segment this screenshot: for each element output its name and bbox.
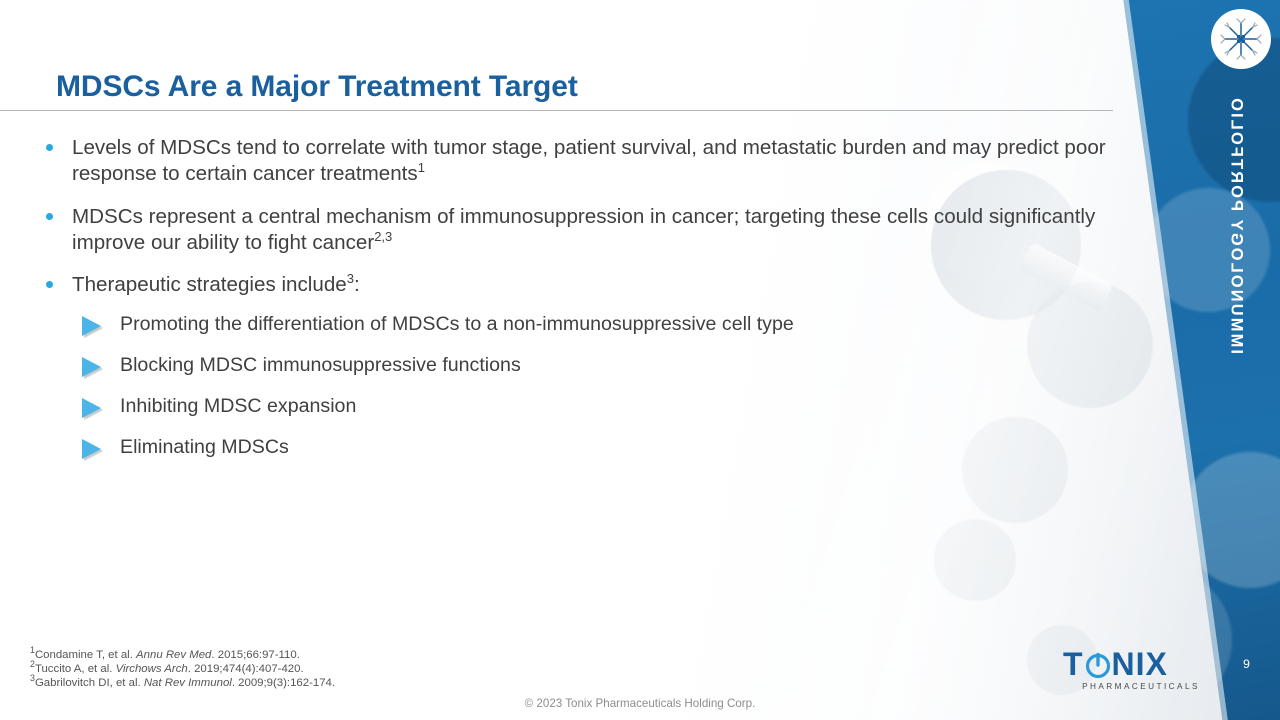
footnote-citation: . 2019;474(4):407-420.: [188, 663, 304, 675]
bullet-text-main: Levels of MDSCs tend to correlate with t…: [72, 136, 1106, 185]
footnote-authors: Tuccito A, et al.: [35, 663, 116, 675]
tonix-logo: T NIX PHARMACEUTICALS: [1063, 648, 1219, 692]
footnote-item: 3Gabrilovitch DI, et al. Nat Rev Immunol…: [30, 676, 335, 690]
footnote-authors: Gabrilovitch DI, et al.: [35, 677, 144, 689]
footnote-list: 1Condamine T, et al. Annu Rev Med. 2015;…: [30, 648, 335, 691]
footnote-item: 2Tuccito A, et al. Virchows Arch. 2019;4…: [30, 662, 335, 676]
bullet-item: Levels of MDSCs tend to correlate with t…: [46, 135, 1121, 187]
arrow-right-icon: [82, 353, 120, 378]
sub-bullet-item: Eliminating MDSCs: [82, 435, 1121, 460]
bullet-item: Therapeutic strategies include3:: [46, 272, 1121, 298]
sub-bullet-label: Inhibiting MDSC expansion: [120, 394, 1121, 418]
bullet-item: MDSCs represent a central mechanism of i…: [46, 204, 1121, 256]
bullet-dot-icon: [46, 135, 72, 151]
tonix-logo-nix: NIX: [1112, 648, 1168, 680]
bullet-superscript: 2,3: [374, 229, 392, 244]
tonix-logo-t: T: [1063, 648, 1084, 680]
page-number: 9: [1243, 657, 1250, 671]
footnote-journal: Nat Rev Immunol: [144, 677, 232, 689]
arrow-right-icon: [82, 312, 120, 337]
page-title: MDSCs Are a Major Treatment Target: [56, 70, 578, 104]
bullet-dot-icon: [46, 272, 72, 288]
sub-bullet-list: Promoting the differentiation of MDSCs t…: [46, 312, 1121, 460]
bullet-text: Levels of MDSCs tend to correlate with t…: [72, 135, 1121, 187]
tonix-logo-power-icon: [1085, 651, 1111, 677]
footnote-journal: Annu Rev Med: [136, 649, 211, 661]
sidebar-vertical-label: IMMUNOLOGY PORTFOLIO: [1216, 96, 1256, 396]
bullet-superscript: 1: [418, 160, 425, 175]
footnote-authors: Condamine T, et al.: [35, 649, 136, 661]
bullet-dot-icon: [46, 204, 72, 220]
bullet-text-suffix: :: [354, 273, 360, 296]
molecule-snowflake-icon: [1211, 9, 1271, 69]
sub-bullet-item: Promoting the differentiation of MDSCs t…: [82, 312, 1121, 337]
sub-bullet-label: Promoting the differentiation of MDSCs t…: [120, 312, 1121, 336]
footnote-citation: . 2009;9(3):162-174.: [232, 677, 335, 689]
arrow-right-icon: [82, 435, 120, 460]
sub-bullet-item: Inhibiting MDSC expansion: [82, 394, 1121, 419]
bullet-text: Therapeutic strategies include3:: [72, 272, 1121, 298]
footnote-item: 1Condamine T, et al. Annu Rev Med. 2015;…: [30, 648, 335, 662]
tonix-logo-wordmark: T NIX: [1063, 648, 1219, 680]
title-divider: [0, 110, 1113, 111]
bullet-superscript: 3: [347, 271, 354, 286]
sidebar-vertical-label-text: IMMUNOLOGY PORTFOLIO: [1227, 96, 1246, 354]
slide-canvas: IMMUNOLOGY PORTFOLIO MDSCs Are a Major T…: [0, 0, 1280, 720]
sub-bullet-label: Eliminating MDSCs: [120, 435, 1121, 459]
sub-bullet-label: Blocking MDSC immunosuppressive function…: [120, 353, 1121, 377]
bullet-text-main: Therapeutic strategies include: [72, 273, 347, 296]
copyright-notice: © 2023 Tonix Pharmaceuticals Holding Cor…: [0, 697, 1280, 710]
sub-bullet-item: Blocking MDSC immunosuppressive function…: [82, 353, 1121, 378]
arrow-right-icon: [82, 394, 120, 419]
footnote-journal: Virchows Arch: [116, 663, 188, 675]
bullet-text-main: MDSCs represent a central mechanism of i…: [72, 205, 1095, 254]
bullet-text: MDSCs represent a central mechanism of i…: [72, 204, 1121, 256]
footnote-citation: . 2015;66:97-110.: [211, 649, 299, 661]
tonix-logo-tagline: PHARMACEUTICALS: [1063, 682, 1219, 691]
slide-body: Levels of MDSCs tend to correlate with t…: [46, 135, 1121, 476]
